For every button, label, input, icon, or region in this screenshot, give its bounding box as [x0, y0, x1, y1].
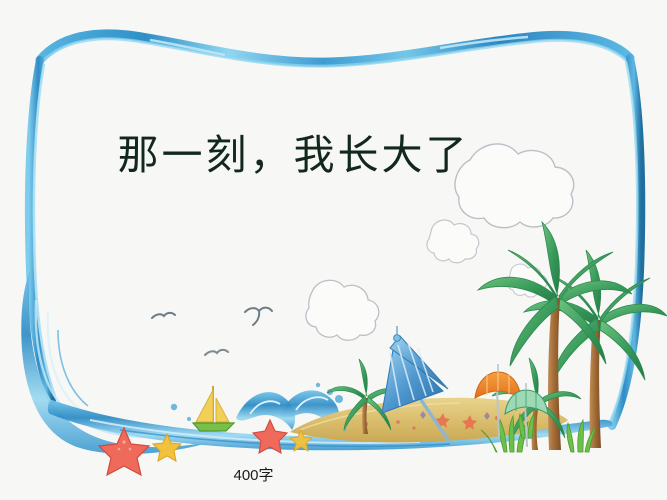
cloud-medium: [306, 280, 379, 340]
cloud-large: [455, 144, 574, 228]
bird-2: [245, 308, 272, 325]
decorative-illustration: [0, 0, 667, 500]
bird-3: [205, 350, 228, 355]
cloud-small: [427, 220, 479, 263]
slide-canvas: 那一刻，我长大了 400字: [0, 0, 667, 500]
bird-1: [152, 313, 175, 318]
sailboat: [193, 386, 234, 431]
